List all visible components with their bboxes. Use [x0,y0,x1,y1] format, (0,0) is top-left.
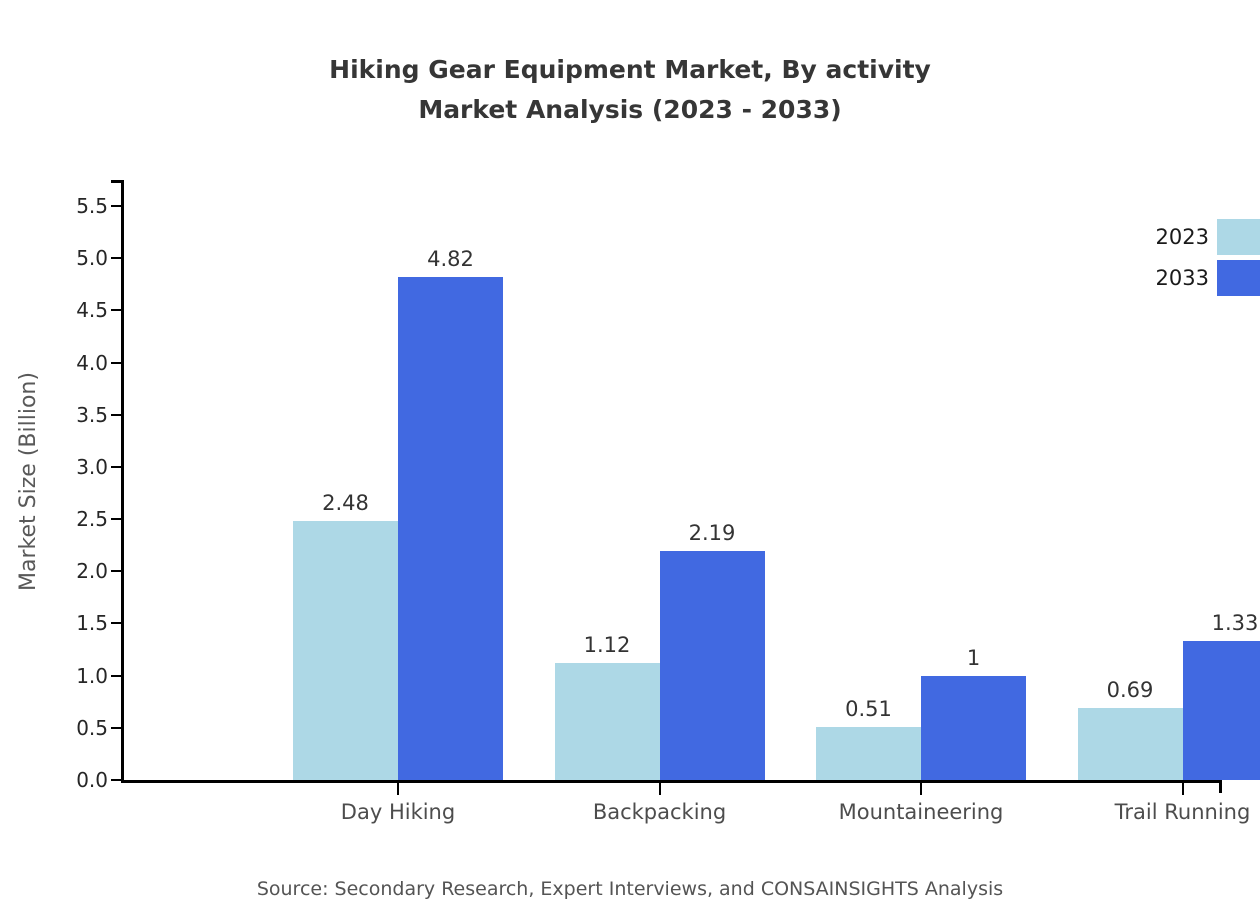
x-tick-label: Day Hiking [341,800,455,824]
legend-label-2023: 2023 [1133,225,1209,249]
bar-2023-day-hiking[interactable]: 2.48 [293,521,398,780]
legend-label-2033: 2033 [1133,266,1209,290]
y-tick [111,362,122,364]
bar-value-label: 2.48 [322,491,369,515]
y-tick-label: 0.0 [76,768,108,792]
plot-area: 0.00.51.01.52.02.53.03.54.04.55.05.5 Day… [121,180,1222,783]
bar-2023-mountaineering[interactable]: 0.51 [816,727,921,780]
bar-value-label: 0.51 [845,697,892,721]
bar-value-label: 2.19 [689,521,736,545]
chart-title-line2: Market Analysis (2023 - 2033) [0,90,1260,130]
y-tick-label: 2.5 [76,507,108,531]
y-tick [111,727,122,729]
y-tick-label: 1.0 [76,664,108,688]
y-tick-label: 5.0 [76,246,108,270]
y-tick-label: 5.5 [76,194,108,218]
y-tick-label: 4.5 [76,298,108,322]
bar-2033-backpacking[interactable]: 2.19 [660,551,765,780]
x-tick [1182,783,1184,795]
y-tick [111,622,122,624]
y-tick [111,779,122,781]
y-tick-label: 1.5 [76,611,108,635]
x-tick [920,783,922,795]
y-tick [111,518,122,520]
y-tick [111,414,122,416]
bar-2033-trail-running[interactable]: 1.33 [1183,641,1260,780]
y-tick [111,466,122,468]
x-tick-label: Trail Running [1115,800,1251,824]
y-tick [111,675,122,677]
chart-legend: 2023 2033 [1133,216,1260,298]
y-tick-label: 2.0 [76,559,108,583]
chart-figure: Hiking Gear Equipment Market, By activit… [0,0,1260,920]
x-tick [397,783,399,795]
y-axis-spine [121,180,124,783]
y-axis-top-cap [111,180,124,183]
bar-value-label: 0.69 [1107,678,1154,702]
chart-title: Hiking Gear Equipment Market, By activit… [0,50,1260,130]
bar-value-label: 1.33 [1212,611,1259,635]
bar-value-label: 1.12 [584,633,631,657]
y-tick-label: 3.0 [76,455,108,479]
y-tick [111,309,122,311]
x-tick-label: Mountaineering [839,800,1004,824]
x-tick [659,783,661,795]
legend-item-2033[interactable]: 2033 [1133,257,1260,298]
bar-2033-day-hiking[interactable]: 4.82 [398,277,503,780]
legend-swatch-2023 [1217,219,1260,255]
bar-2023-backpacking[interactable]: 1.12 [555,663,660,780]
y-tick [111,205,122,207]
x-axis-spine [121,780,1222,783]
bar-value-label: 4.82 [427,247,474,271]
y-tick-label: 4.0 [76,351,108,375]
legend-swatch-2033 [1217,260,1260,296]
y-tick [111,570,122,572]
bar-2023-trail-running[interactable]: 0.69 [1078,708,1183,780]
x-tick-label: Backpacking [593,800,726,824]
chart-title-line1: Hiking Gear Equipment Market, By activit… [329,55,931,84]
y-tick-label: 0.5 [76,716,108,740]
bar-value-label: 1 [967,646,980,670]
y-tick-label: 3.5 [76,403,108,427]
y-axis-title: Market Size (Billion) [14,180,44,783]
x-axis-right-cap [1219,780,1222,793]
legend-item-2023[interactable]: 2023 [1133,216,1260,257]
source-note: Source: Secondary Research, Expert Inter… [0,878,1260,900]
bar-2033-mountaineering[interactable]: 1 [921,676,1026,780]
y-tick [111,257,122,259]
